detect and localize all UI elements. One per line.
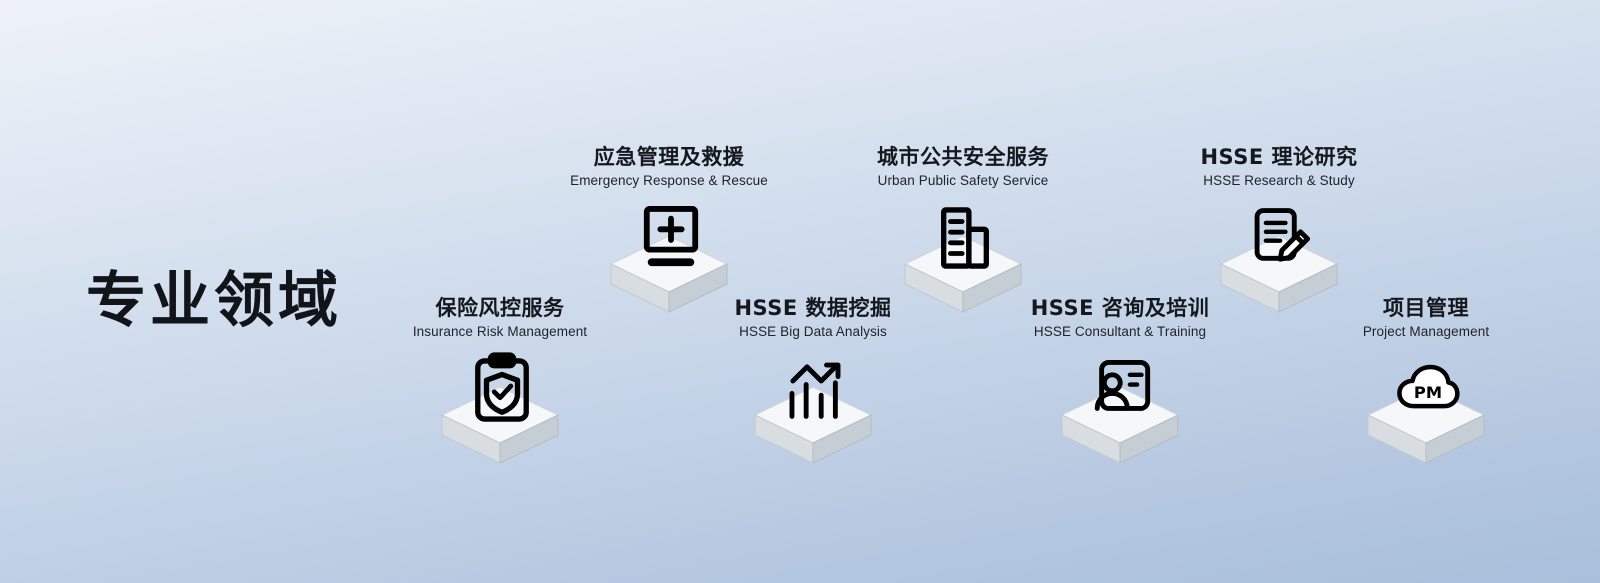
- field-illustration: [663, 349, 963, 469]
- field-label-en: HSSE Big Data Analysis: [663, 323, 963, 341]
- field-item-insurance-risk-management[interactable]: 保险风控服务Insurance Risk Management: [350, 295, 650, 469]
- field-item-hsse-consultant-training[interactable]: HSSE 咨询及培训HSSE Consultant & Training: [970, 295, 1270, 469]
- cloud-pm-icon: PM: [1397, 353, 1459, 425]
- field-illustration: PM: [1276, 349, 1576, 469]
- field-item-hsse-big-data-analysis[interactable]: HSSE 数据挖掘HSSE Big Data Analysis: [663, 295, 963, 469]
- field-label-zh: 应急管理及救援: [519, 144, 819, 170]
- field-label-zh: 城市公共安全服务: [813, 144, 1113, 170]
- person-id-card-icon: [1091, 353, 1153, 425]
- cloud-pm-label: PM: [1414, 383, 1442, 402]
- field-label-en: Urban Public Safety Service: [813, 172, 1113, 190]
- field-label-zh: HSSE 理论研究: [1129, 144, 1429, 170]
- clipboard-shield-check-icon: [471, 353, 533, 425]
- field-label-zh: HSSE 数据挖掘: [663, 295, 963, 321]
- field-label-zh: 项目管理: [1276, 295, 1576, 321]
- field-label-zh: 保险风控服务: [350, 295, 650, 321]
- bar-chart-trend-icon: [784, 353, 846, 425]
- field-item-urban-public-safety-service[interactable]: 城市公共安全服务Urban Public Safety Service: [813, 144, 1113, 318]
- field-item-hsse-research-study[interactable]: HSSE 理论研究HSSE Research & Study: [1129, 144, 1429, 318]
- field-item-emergency-response-rescue[interactable]: 应急管理及救援Emergency Response & Rescue: [519, 144, 819, 318]
- field-label-en: Emergency Response & Rescue: [519, 172, 819, 190]
- field-label-en: Project Management: [1276, 323, 1576, 341]
- field-label-en: HSSE Research & Study: [1129, 172, 1429, 190]
- document-pencil-icon: [1250, 202, 1312, 274]
- field-label-en: HSSE Consultant & Training: [970, 323, 1270, 341]
- field-item-project-management[interactable]: 项目管理Project Management PM: [1276, 295, 1576, 469]
- page-title: 专业领域: [86, 268, 342, 335]
- field-label-en: Insurance Risk Management: [350, 323, 650, 341]
- field-illustration: [970, 349, 1270, 469]
- buildings-icon: [934, 202, 996, 274]
- field-illustration: [350, 349, 650, 469]
- monitor-plus-icon: [640, 202, 702, 274]
- field-label-zh: HSSE 咨询及培训: [970, 295, 1270, 321]
